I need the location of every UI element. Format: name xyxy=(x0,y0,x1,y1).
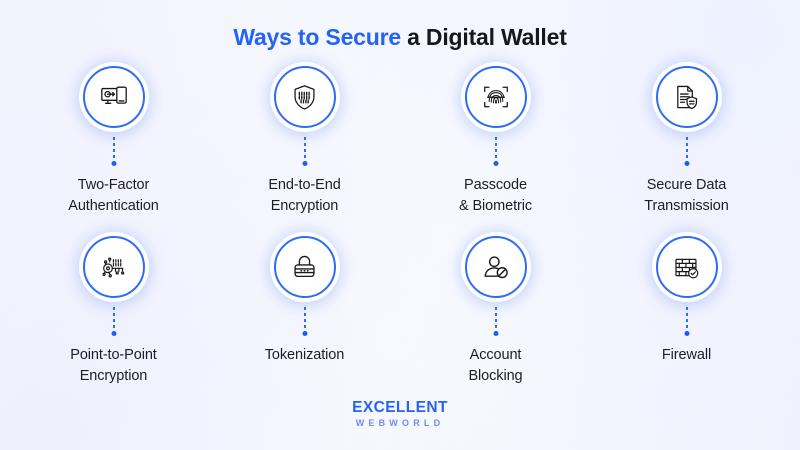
item-label: Firewall xyxy=(662,345,711,366)
shield-binary-icon xyxy=(290,83,319,112)
grid-item-passcode-biometric[interactable]: Passcode & Biometric xyxy=(400,66,591,236)
item-label: Point-to-Point Encryption xyxy=(70,345,156,386)
connector-line xyxy=(495,307,497,333)
logo-secondary-text: WEBWORLD xyxy=(0,419,800,428)
connector-line xyxy=(113,307,115,333)
item-label: Secure Data Transmission xyxy=(644,175,728,216)
padlock-dots-icon xyxy=(290,253,319,282)
infographic-canvas: Ways to Secure a Digital Wallet xyxy=(0,0,800,450)
icon-badge xyxy=(465,236,527,298)
icon-badge xyxy=(274,236,336,298)
grid-item-firewall[interactable]: Firewall xyxy=(591,236,782,406)
icon-badge xyxy=(83,66,145,128)
brand-logo[interactable]: EXCELLENT WEBWORLD xyxy=(0,400,800,429)
security-methods-grid: Two-Factor Authentication End-to- xyxy=(18,66,782,406)
item-label: Account Blocking xyxy=(468,345,522,386)
connector-line xyxy=(304,137,306,163)
item-label: End-to-End Encryption xyxy=(268,175,340,216)
key-binary-circuit-icon xyxy=(99,252,129,282)
connector-line xyxy=(686,137,688,163)
connector-line xyxy=(113,137,115,163)
monitor-phone-auth-icon xyxy=(99,82,129,112)
title-rest: a Digital Wallet xyxy=(401,24,567,50)
item-label: Two-Factor Authentication xyxy=(68,175,159,216)
item-label: Tokenization xyxy=(265,345,344,366)
connector-line xyxy=(304,307,306,333)
icon-badge xyxy=(656,236,718,298)
item-label: Passcode & Biometric xyxy=(459,175,532,216)
brick-wall-check-icon xyxy=(672,253,701,282)
grid-item-point-to-point-encryption[interactable]: Point-to-Point Encryption xyxy=(18,236,209,406)
icon-badge xyxy=(656,66,718,128)
document-shield-icon xyxy=(672,83,701,112)
page-title: Ways to Secure a Digital Wallet xyxy=(0,24,800,51)
icon-badge xyxy=(465,66,527,128)
fingerprint-scan-icon xyxy=(481,82,511,112)
icon-badge xyxy=(83,236,145,298)
title-accent: Ways to Secure xyxy=(233,24,401,50)
connector-line xyxy=(495,137,497,163)
grid-item-secure-data-transmission[interactable]: Secure Data Transmission xyxy=(591,66,782,236)
grid-item-tokenization[interactable]: Tokenization xyxy=(209,236,400,406)
grid-item-account-blocking[interactable]: Account Blocking xyxy=(400,236,591,406)
grid-item-end-to-end-encryption[interactable]: End-to-End Encryption xyxy=(209,66,400,236)
icon-badge xyxy=(274,66,336,128)
user-blocked-icon xyxy=(481,252,511,282)
grid-item-two-factor-authentication[interactable]: Two-Factor Authentication xyxy=(18,66,209,236)
logo-primary-text: EXCELLENT xyxy=(0,400,800,416)
connector-line xyxy=(686,307,688,333)
